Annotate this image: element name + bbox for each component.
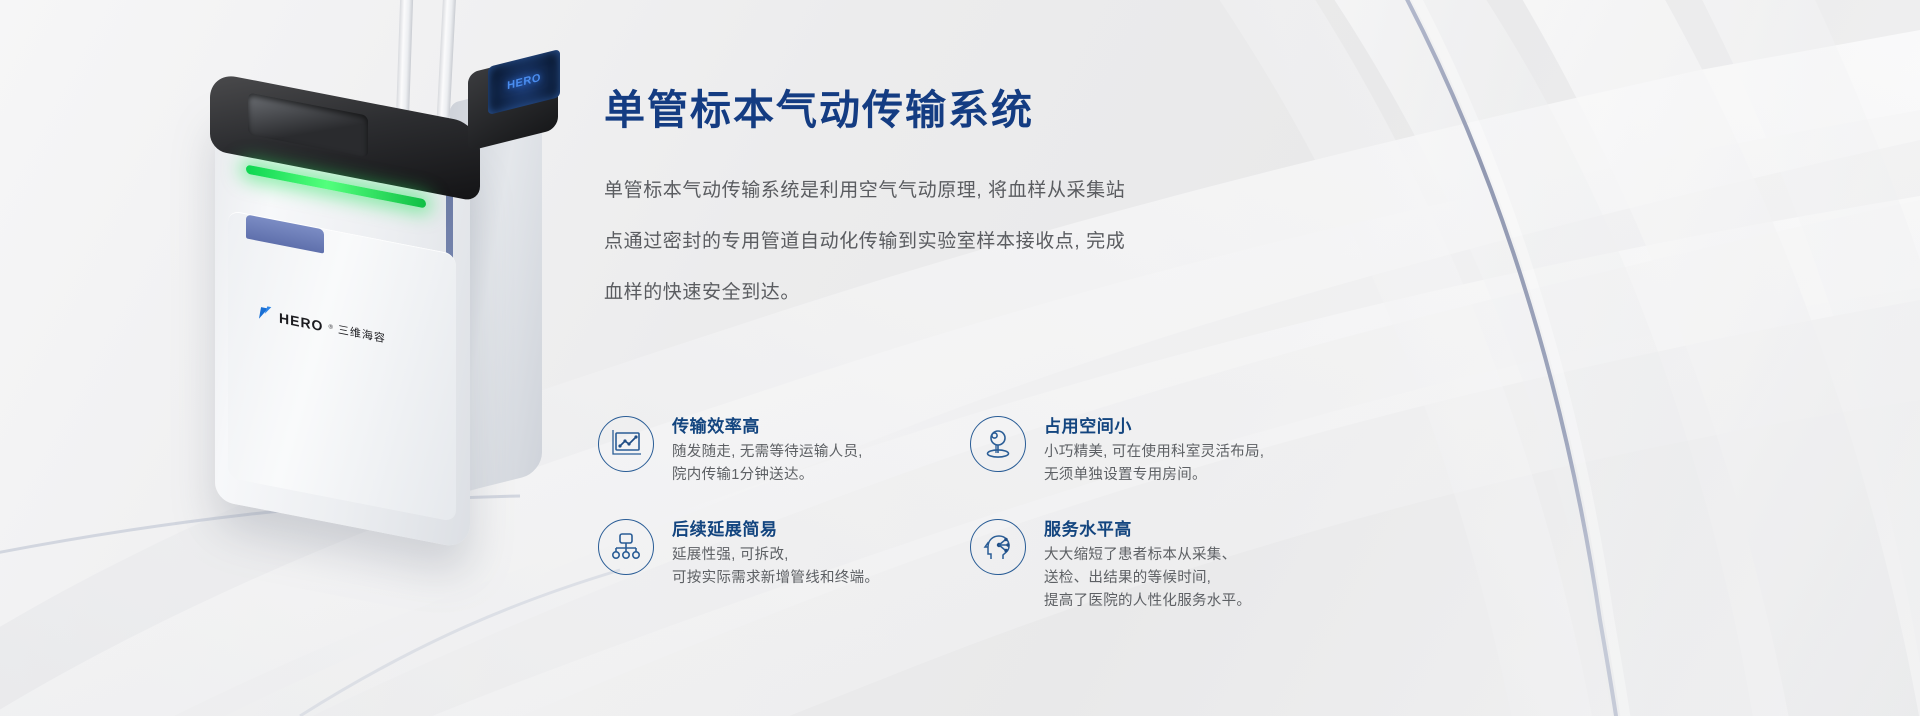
feature-item-small-footprint: 占用空间小 小巧精美, 可在使用科室灵活布局, 无须单独设置专用房间。	[970, 412, 1342, 487]
feature-line: 可按实际需求新增管线和终端。	[672, 567, 879, 590]
pneumatic-tube-2	[437, 0, 457, 120]
feature-title: 占用空间小	[1044, 412, 1264, 437]
screen-logo-glyph: HERO	[507, 72, 541, 92]
feature-title: 传输效率高	[672, 412, 863, 437]
feature-line: 提高了医院的人性化服务水平。	[1044, 590, 1251, 613]
feature-item-service-level: 服务水平高 大大缩短了患者标本从采集、 送检、出结果的等候时间, 提高了医院的人…	[970, 515, 1342, 613]
banner-content: 单管标本气动传输系统 单管标本气动传输系统是利用空气气动原理, 将血样从采集站 …	[604, 86, 1304, 318]
description-line: 点通过密封的专用管道自动化传输到实验室样本接收点, 完成	[604, 216, 1264, 267]
feature-title: 服务水平高	[1044, 515, 1251, 540]
feature-line: 送检、出结果的等候时间,	[1044, 567, 1251, 590]
hero-swoosh-icon	[258, 306, 274, 325]
product-image: HERO HERO ® 三维海容	[150, 0, 580, 600]
feature-item-easy-expansion: 后续延展简易 延展性强, 可拆改, 可按实际需求新增管线和终端。	[598, 515, 970, 613]
accent-curve	[1386, 0, 1622, 716]
feature-line: 延展性强, 可拆改,	[672, 544, 879, 567]
banner-stage: HERO HERO ® 三维海容 单管标本气动传输系统 单管标本气动传输系统是利…	[0, 0, 1920, 716]
description-line: 单管标本气动传输系统是利用空气气动原理, 将血样从采集站	[604, 165, 1264, 216]
arc-ribbon-2	[1420, 0, 1920, 716]
description-paragraph: 单管标本气动传输系统是利用空气气动原理, 将血样从采集站 点通过密封的专用管道自…	[604, 165, 1264, 318]
feature-text: 服务水平高 大大缩短了患者标本从采集、 送检、出结果的等候时间, 提高了医院的人…	[1044, 515, 1251, 613]
feature-grid: 传输效率高 随发随走, 无需等待运输人员, 院内传输1分钟送达。 占用空间小 小…	[598, 412, 1342, 613]
feature-line: 小巧精美, 可在使用科室灵活布局,	[1044, 441, 1264, 464]
device-door	[228, 210, 456, 522]
trademark-symbol: ®	[328, 324, 332, 331]
feature-line: 院内传输1分钟送达。	[672, 464, 863, 487]
smart-head-icon	[970, 519, 1026, 575]
feature-item-transmission-efficiency: 传输效率高 随发随走, 无需等待运输人员, 院内传输1分钟送达。	[598, 412, 970, 487]
feature-line: 随发随走, 无需等待运输人员,	[672, 441, 863, 464]
feature-line: 无须单独设置专用房间。	[1044, 464, 1264, 487]
network-tree-icon	[598, 519, 654, 575]
description-line: 血样的快速安全到达。	[604, 267, 1264, 318]
line-chart-icon	[598, 416, 654, 472]
feature-title: 后续延展简易	[672, 515, 879, 540]
feature-text: 后续延展简易 延展性强, 可拆改, 可按实际需求新增管线和终端。	[672, 515, 879, 590]
arc-ribbon-3	[1600, 0, 1920, 716]
accent-curve-glow	[1395, 0, 1631, 716]
feature-text: 传输效率高 随发随走, 无需等待运输人员, 院内传输1分钟送达。	[672, 412, 863, 487]
feature-text: 占用空间小 小巧精美, 可在使用科室灵活布局, 无须单独设置专用房间。	[1044, 412, 1264, 487]
feature-line: 大大缩短了患者标本从采集、	[1044, 544, 1251, 567]
page-title: 单管标本气动传输系统	[604, 86, 1304, 135]
space-pin-icon	[970, 416, 1026, 472]
